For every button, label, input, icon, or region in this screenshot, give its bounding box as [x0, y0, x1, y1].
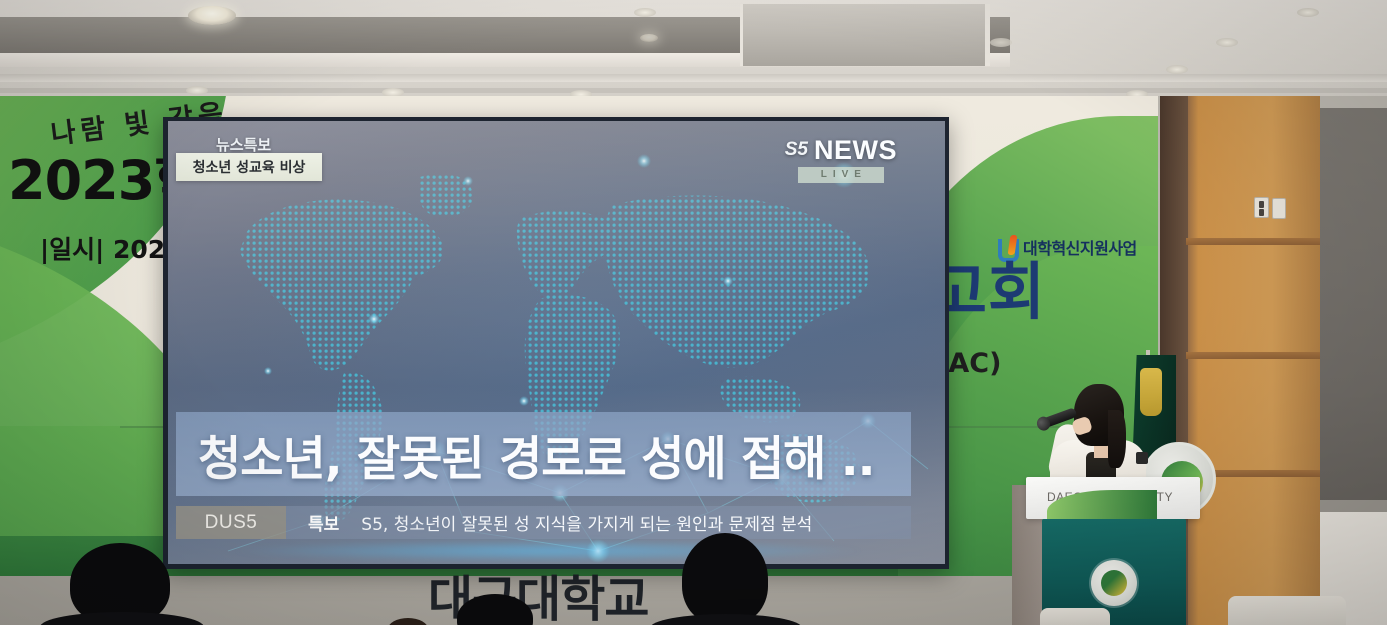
side-wall-panel-sill	[1320, 500, 1387, 512]
speaker-hair-side	[1108, 410, 1126, 468]
screen-bottom-glow	[228, 540, 868, 562]
ticker-channel-box: DUS5	[176, 506, 286, 539]
ceiling-downlight	[1297, 8, 1319, 17]
outlet-hole-icon	[1259, 201, 1264, 208]
projection-screen: 뉴스특보 청소년 성교육 비상 S5 NEWS LIVE 청소년, 잘못된 경로…	[168, 121, 945, 564]
ceiling-downlight	[188, 6, 236, 25]
blank-switch-plate[interactable]	[1272, 198, 1286, 219]
brand-prefix: S5	[785, 140, 808, 159]
audience-chair	[1228, 596, 1346, 625]
dotted-world-map-graphic	[168, 121, 945, 564]
ceiling-vent	[740, 4, 990, 66]
pillar-seam	[1186, 238, 1320, 245]
ceiling-band	[0, 74, 1387, 82]
slide-headline-bar: 청소년, 잘못된 경로로 성에 접해 ..	[176, 412, 911, 496]
ceiling	[0, 0, 1387, 104]
slide-subheadline-box: 청소년 성교육 비상	[176, 153, 322, 181]
slide-ticker: DUS5 특보 S5, 청소년이 잘못된 성 지식을 가지게 되는 원인과 문제…	[176, 506, 911, 539]
slide-subheadline-text: 청소년 성교육 비상	[193, 157, 306, 177]
live-badge-label: LIVE	[815, 169, 867, 180]
lapel-clip	[1136, 452, 1148, 464]
live-badge: LIVE	[798, 167, 884, 183]
flag-tassel	[1140, 368, 1162, 416]
banner-date-label: |일시| 2023	[40, 230, 183, 266]
ceiling-downlight	[634, 8, 656, 17]
slide-headline-text: 청소년, 잘못된 경로로 성에 접해 ..	[176, 420, 875, 489]
ceiling-downlight	[640, 34, 658, 42]
ceiling-band-lower	[0, 88, 1387, 93]
outlet-hole-icon	[1259, 209, 1264, 216]
ceiling-downlight	[990, 38, 1012, 47]
ceiling-downlight	[1216, 38, 1238, 47]
side-wall-panel	[1320, 108, 1387, 508]
ticker-tag: 특보	[308, 510, 339, 535]
ticker-text: S5, 청소년이 잘못된 성 지식을 가지게 되는 원인과 문제점 분석	[361, 510, 812, 535]
slide-channel-brand: S5 NEWS LIVE	[785, 138, 897, 183]
podium-front-plate: DAEGU UNIVERSITY	[1026, 477, 1200, 519]
ticker-body: 특보 S5, 청소년이 잘못된 성 지식을 가지게 되는 원인과 문제점 분석	[286, 506, 911, 539]
ticker-channel-label: DUS5	[205, 512, 258, 534]
audience-chair	[1040, 608, 1110, 625]
power-outlet-plate[interactable]	[1254, 197, 1269, 218]
ceiling-downlight	[186, 86, 208, 95]
brand-name: NEWS	[814, 138, 897, 164]
slide-news-kicker: 뉴스특보	[216, 134, 271, 155]
ceiling-downlight	[1166, 65, 1188, 74]
podium-seal-icon	[1091, 560, 1137, 606]
audience-head	[682, 533, 768, 625]
pillar-seam	[1186, 352, 1320, 359]
photo-scene: 나람 빛 감음 2023학년 |일시| 2023 대학혁신지원사업 고회 -LA…	[0, 0, 1387, 625]
